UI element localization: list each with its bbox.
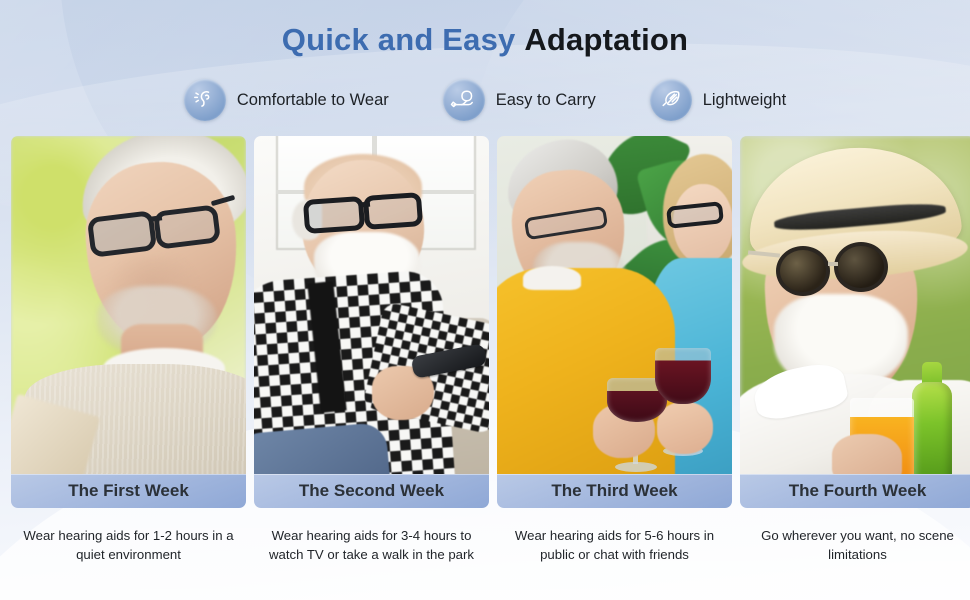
week-caption-text: The Fourth Week bbox=[789, 481, 927, 501]
page-title-rest: Adaptation bbox=[524, 22, 688, 57]
week-card-second: The Second Week Wear hearing aids for 3-… bbox=[254, 136, 489, 564]
ear-sound-icon bbox=[184, 79, 226, 121]
week-caption-text: The Second Week bbox=[299, 481, 444, 501]
feature-label: Lightweight bbox=[703, 91, 786, 110]
week-photo-second bbox=[254, 136, 489, 474]
feature-list: Comfortable to Wear Easy to Carry bbox=[0, 79, 970, 121]
feature-label: Comfortable to Wear bbox=[237, 91, 389, 110]
hand-carry-icon bbox=[443, 79, 485, 121]
feather-icon bbox=[650, 79, 692, 121]
week-description: Wear hearing aids for 3-4 hours to watch… bbox=[254, 526, 489, 564]
page-title: Quick and Easy Adaptation bbox=[0, 22, 970, 58]
feature-label: Easy to Carry bbox=[496, 91, 596, 110]
week-description: Wear hearing aids for 5-6 hours in publi… bbox=[497, 526, 732, 564]
week-card-third: The Third Week Wear hearing aids for 5-6… bbox=[497, 136, 732, 564]
page-title-highlight: Quick and Easy bbox=[282, 22, 516, 57]
week-photo-third bbox=[497, 136, 732, 474]
week-description: Wear hearing aids for 1-2 hours in a qui… bbox=[11, 526, 246, 564]
week-caption-bar: The Second Week bbox=[254, 474, 489, 508]
feature-comfortable-to-wear: Comfortable to Wear bbox=[184, 79, 389, 121]
week-card-list: The First Week Wear hearing aids for 1-2… bbox=[11, 136, 959, 564]
week-card-fourth: The Fourth Week Go wherever you want, no… bbox=[740, 136, 970, 564]
promo-banner: Quick and Easy Adaptation Comfortable to… bbox=[0, 0, 970, 600]
feature-easy-to-carry: Easy to Carry bbox=[443, 79, 596, 121]
week-photo-first bbox=[11, 136, 246, 474]
week-description: Go wherever you want, no scene limitatio… bbox=[740, 526, 970, 564]
week-photo-fourth bbox=[740, 136, 970, 474]
week-caption-text: The Third Week bbox=[551, 481, 677, 501]
week-card-first: The First Week Wear hearing aids for 1-2… bbox=[11, 136, 246, 564]
week-caption-bar: The First Week bbox=[11, 474, 246, 508]
week-caption-bar: The Third Week bbox=[497, 474, 732, 508]
week-caption-text: The First Week bbox=[68, 481, 189, 501]
feature-lightweight: Lightweight bbox=[650, 79, 786, 121]
week-caption-bar: The Fourth Week bbox=[740, 474, 970, 508]
